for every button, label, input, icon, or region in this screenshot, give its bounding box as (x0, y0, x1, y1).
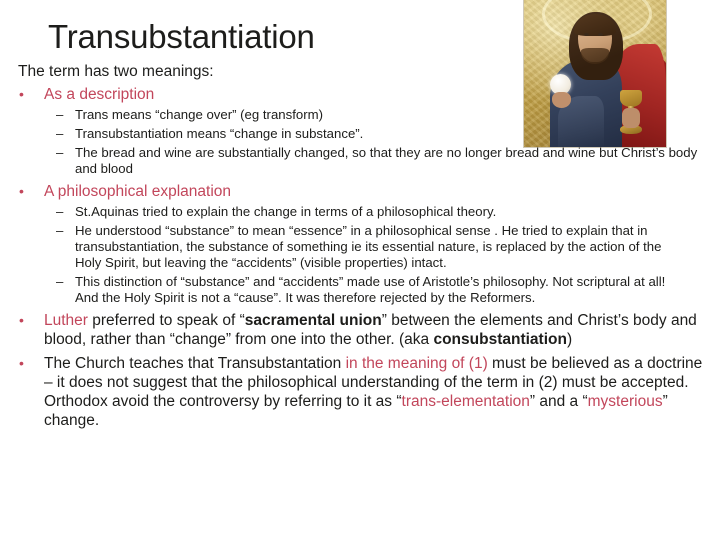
bullet-3-bold-sacramental-union: sacramental union (245, 312, 382, 329)
sub-bullet-1-3-text: The bread and wine are substantially cha… (75, 145, 697, 176)
sub-bullet-1-2: – Transubstantiation means “change in su… (0, 126, 575, 142)
bullet-3-bold-consubstantiation: consubstantiation (433, 331, 566, 348)
bullet-4-text-a: The Church teaches that Transubstantatio… (44, 355, 346, 372)
bullet-2-label: A philosophical explanation (44, 183, 231, 200)
bullet-a-philosophical-explanation: • A philosophical explanation (0, 182, 720, 201)
slide-body: The term has two meanings: • As a descri… (0, 62, 720, 430)
dash-icon: – (56, 107, 63, 123)
bullet-4-red-meaning-of-1: in the meaning of (1) (346, 355, 488, 372)
sub-bullet-1-1-text: Trans means “change over” (eg transform) (75, 107, 323, 122)
eye-right (598, 33, 603, 36)
bullet-3-text-a: preferred to speak of “ (88, 312, 245, 329)
lead-line: The term has two meanings: (0, 62, 720, 81)
dash-icon: – (56, 126, 63, 142)
dash-icon: – (56, 223, 63, 239)
bullet-4-text-c: ” and a “ (530, 393, 588, 410)
dash-icon: – (56, 145, 63, 161)
bullet-3-text-c: ) (567, 331, 572, 348)
sub-bullet-2-3: – This distinction of “substance” and “a… (0, 274, 687, 306)
bullet-dot-icon: • (19, 354, 24, 373)
bullet-church-teaches: • The Church teaches that Transubstantat… (0, 354, 712, 430)
bullet-luther-sacramental-union: • Luther preferred to speak of “sacramen… (0, 311, 704, 349)
sub-bullet-1-3: – The bread and wine are substantially c… (0, 145, 713, 177)
bullet-dot-icon: • (19, 85, 24, 104)
bullet-1-label: As a description (44, 86, 154, 103)
bullet-3-luther: Luther (44, 312, 88, 329)
sub-bullet-1-1: – Trans means “change over” (eg transfor… (0, 107, 575, 123)
bullet-dot-icon: • (19, 182, 24, 201)
sub-bullet-2-2-text: He understood “substance” to mean “essen… (75, 223, 661, 270)
sub-bullet-1-2-text: Transubstantiation means “change in subs… (75, 126, 363, 141)
sub-bullet-2-3-text: This distinction of “substance” and “acc… (75, 274, 665, 305)
bullet-as-a-description: • As a description (0, 85, 720, 104)
sub-bullet-2-2: – He understood “substance” to mean “ess… (0, 223, 687, 271)
bullet-4-red-trans-elementation: trans-elementation (402, 393, 530, 410)
sub-bullet-2-1-text: St.Aquinas tried to explain the change i… (75, 204, 496, 219)
page-title: Transubstantiation (48, 18, 315, 56)
slide-canvas: Transubstantiation The term has two mean… (0, 0, 720, 539)
bullet-4-red-mysterious: mysterious (588, 393, 663, 410)
bullet-dot-icon: • (19, 311, 24, 330)
dash-icon: – (56, 274, 63, 290)
dash-icon: – (56, 204, 63, 220)
sub-bullet-2-1: – St.Aquinas tried to explain the change… (0, 204, 687, 220)
eye-left (584, 33, 589, 36)
